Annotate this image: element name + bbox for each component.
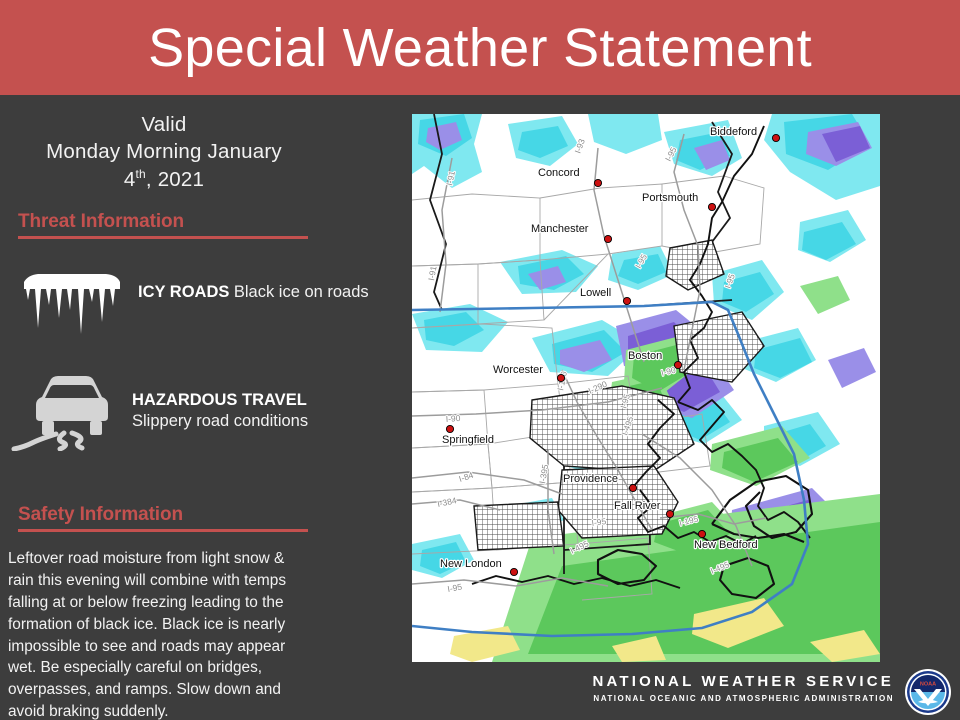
city-label: Lowell	[580, 287, 611, 299]
left-panel: Valid Monday Morning January 4th, 2021 T…	[0, 95, 400, 720]
city-label: Boston	[628, 350, 662, 362]
header-banner: Special Weather Statement	[0, 0, 960, 95]
valid-year: , 2021	[146, 168, 204, 191]
weather-statement-graphic: Special Weather Statement Valid Monday M…	[0, 0, 960, 720]
city-label: New London	[440, 558, 502, 570]
city-label: Providence	[563, 473, 618, 485]
page-title: Special Weather Statement	[148, 21, 812, 75]
threat-item-haz-title: HAZARDOUS TRAVEL	[132, 391, 307, 409]
valid-day-suffix: th	[135, 167, 145, 181]
city-dot	[604, 235, 611, 242]
safety-heading-label: Safety Information	[18, 505, 308, 526]
city-dot	[446, 425, 453, 432]
threat-item-icy-text: ICY ROADS Black ice on roads	[138, 272, 369, 303]
city-dot	[698, 530, 705, 537]
city-label: Fall River	[614, 500, 661, 512]
car-skid-icon	[10, 371, 122, 456]
threat-item-icy-roads: ICY ROADS Black ice on roads	[22, 272, 369, 343]
threat-item-icy-title: ICY ROADS	[138, 283, 229, 301]
city-label: Concord	[538, 167, 580, 179]
svg-text:NOAA: NOAA	[920, 682, 936, 688]
safety-information-heading: Safety Information	[18, 505, 308, 532]
valid-label: Valid	[8, 111, 320, 138]
threat-item-haz-text: HAZARDOUS TRAVEL Slippery road condition…	[132, 371, 400, 431]
city-label: Worcester	[493, 364, 543, 376]
noaa-subtitle: NATIONAL OCEANIC AND ATMOSPHERIC ADMINIS…	[592, 694, 894, 704]
city-label: Manchester	[531, 223, 589, 235]
valid-day-line: 4th, 2021	[8, 166, 320, 193]
safety-heading-rule	[18, 529, 308, 532]
city-dot	[629, 484, 636, 491]
city-label: Biddeford	[710, 126, 757, 138]
noaa-seal-logo: NOAA	[904, 668, 952, 716]
threat-heading-rule	[18, 236, 308, 239]
city-dot	[510, 568, 517, 575]
nws-branding: NATIONAL WEATHER SERVICE NATIONAL OCEANI…	[592, 674, 894, 703]
city-dot	[666, 510, 673, 517]
city-label: Portsmouth	[642, 192, 698, 204]
radar-map: I-95I-93I-91I-95I-91I-95I-190I-290I-95I-…	[412, 114, 880, 662]
city-dot	[772, 134, 779, 141]
city-label: New Bedford	[694, 539, 758, 551]
city-dot	[708, 203, 715, 210]
highway-label: I-95	[591, 516, 607, 528]
radar-map-svg: I-95I-93I-91I-95I-91I-95I-190I-290I-95I-…	[412, 114, 880, 662]
highway-label: I-90	[445, 413, 461, 424]
threat-information-heading: Threat Information	[18, 212, 308, 239]
nws-title: NATIONAL WEATHER SERVICE	[592, 674, 894, 691]
city-dot	[594, 179, 601, 186]
valid-time-block: Valid Monday Morning January 4th, 2021	[8, 111, 320, 193]
valid-day-number: 4	[124, 168, 136, 191]
valid-date-line: Monday Morning January	[8, 138, 320, 165]
threat-item-icy-subtitle: Black ice on roads	[234, 283, 369, 301]
city-label: Springfield	[442, 434, 494, 446]
icicles-icon	[22, 272, 122, 343]
threat-heading-label: Threat Information	[18, 212, 308, 233]
footer-bar: NATIONAL WEATHER SERVICE NATIONAL OCEANI…	[0, 662, 960, 720]
threat-item-hazardous-travel: HAZARDOUS TRAVEL Slippery road condition…	[10, 371, 400, 456]
city-dot	[674, 361, 681, 368]
city-dot	[557, 374, 564, 381]
threat-item-haz-subtitle: Slippery road conditions	[132, 412, 308, 430]
city-dot	[623, 297, 630, 304]
